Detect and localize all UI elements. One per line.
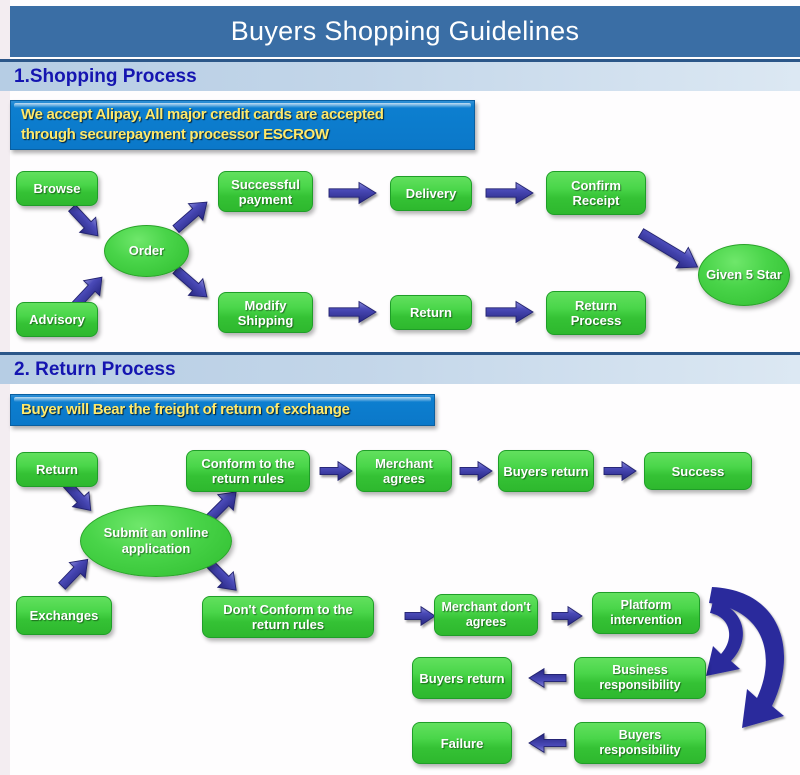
callout-payment-methods: We accept Alipay, All major credit cards… [10, 100, 475, 150]
node-confirm-receipt[interactable]: Confirm Receipt [546, 171, 646, 215]
node-browse[interactable]: Browse [16, 171, 98, 206]
arrow-r-conform-to-merchant-agrees [320, 462, 352, 481]
node-order[interactable]: Order [104, 225, 189, 277]
node-r-conform-to-return-rules[interactable]: Conform to the return rules [186, 450, 310, 492]
node-given-5-star[interactable]: Given 5 Star [698, 244, 790, 306]
node-r-exchanges[interactable]: Exchanges [16, 596, 112, 635]
node-r-buyers-return-top[interactable]: Buyers return [498, 450, 594, 492]
arrow-order-to-successful-payment [169, 194, 214, 238]
guidelines-page: Buyers Shopping Guidelines 1.Shopping Pr… [0, 0, 800, 775]
node-r-submit-online-application[interactable]: Submit an online application [80, 505, 232, 577]
node-advisory[interactable]: Advisory [16, 302, 98, 337]
arrow-r-dont-conform-to-merchant-dont-agrees [405, 607, 435, 626]
node-successful-payment[interactable]: Successful payment [218, 171, 313, 212]
node-modify-shipping[interactable]: Modify Shipping [218, 292, 313, 333]
node-r-return[interactable]: Return [16, 452, 98, 487]
arrow-successful-payment-to-delivery [329, 183, 376, 204]
node-r-dont-conform-to-return-rules[interactable]: Don't Conform to the return rules [202, 596, 374, 638]
section-header-shopping-process: 1.Shopping Process [0, 62, 800, 91]
arrow-r-merchant-dont-agrees-to-platform [552, 607, 582, 626]
arrow-r-business-responsibility-to-buyers-return [529, 669, 566, 688]
node-return[interactable]: Return [390, 295, 472, 330]
arrow-r-buyers-return-to-success [604, 462, 636, 481]
curved-arrow-to-buyers-responsibility [709, 587, 784, 728]
arrow-r-merchant-agrees-to-buyers-return [460, 462, 492, 481]
node-r-merchant-dont-agrees[interactable]: Merchant don't agrees [434, 594, 538, 636]
callout-payment-methods-text: We accept Alipay, All major credit cards… [11, 105, 394, 145]
callout-freight-notice: Buyer will Bear the freight of return of… [10, 394, 435, 426]
left-gutter-strip [0, 0, 10, 775]
arrow-r-buyers-responsibility-to-failure [529, 734, 566, 753]
node-r-buyers-responsibility[interactable]: Buyers responsibility [574, 722, 706, 764]
arrow-browse-to-order [64, 200, 106, 243]
section-2-label: 2. Return Process [0, 359, 176, 381]
section-header-return-process: 2. Return Process [0, 355, 800, 384]
section-1-label: 1.Shopping Process [0, 66, 197, 88]
callout-freight-notice-text: Buyer will Bear the freight of return of… [11, 400, 360, 420]
node-return-process[interactable]: Return Process [546, 291, 646, 335]
curved-arrow-group [706, 587, 784, 728]
node-r-merchant-agrees[interactable]: Merchant agrees [356, 450, 452, 492]
node-r-business-responsibility[interactable]: Business responsibility [574, 657, 706, 699]
node-delivery[interactable]: Delivery [390, 176, 472, 211]
node-r-failure[interactable]: Failure [412, 722, 512, 764]
curved-arrow-to-business-responsibility [706, 601, 743, 676]
arrow-modify-shipping-to-return [329, 302, 376, 323]
arrow-confirm-receipt-to-given-5-star [635, 223, 704, 278]
page-title-bar: Buyers Shopping Guidelines [10, 6, 800, 57]
node-r-success[interactable]: Success [644, 452, 752, 490]
page-title: Buyers Shopping Guidelines [231, 16, 580, 47]
node-r-buyers-return-bottom[interactable]: Buyers return [412, 657, 512, 699]
arrow-delivery-to-confirm-receipt [486, 183, 533, 204]
arrow-return-to-return-process [486, 302, 533, 323]
node-r-platform-intervention[interactable]: Platform intervention [592, 592, 700, 634]
